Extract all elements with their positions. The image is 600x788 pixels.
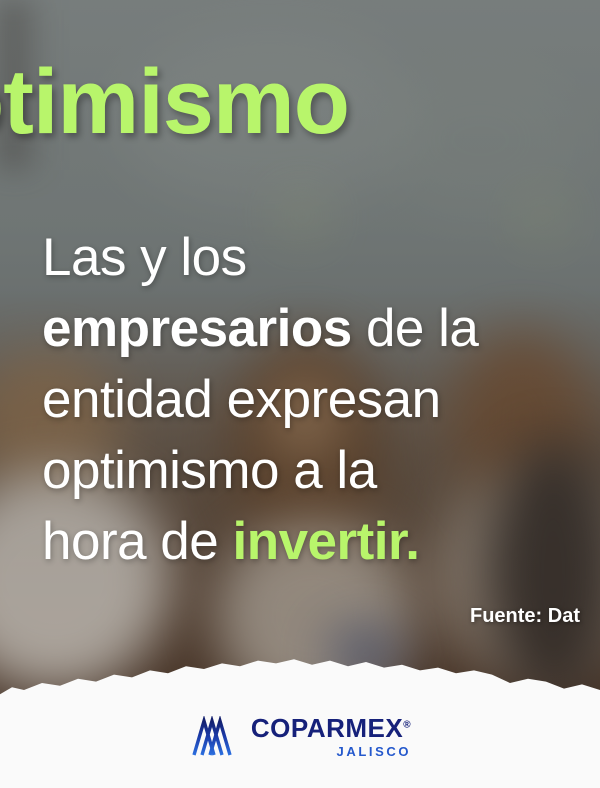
coparmex-name-text: COPARMEX: [251, 713, 403, 743]
body-line-4: optimismo a la: [42, 435, 562, 506]
body-line-5-accent: invertir.: [232, 512, 419, 571]
body-line-2: empresarios de la: [42, 293, 562, 364]
body-line-1: Las y los: [42, 222, 562, 293]
body-line-3-text: entidad expresan: [42, 370, 441, 429]
footer-logo-lockup: COPARMEX® JALISCO: [0, 715, 600, 758]
poster: otimismo Las y los empresarios de la ent…: [0, 0, 600, 788]
registered-trademark-icon: ®: [403, 719, 411, 730]
coparmex-pyramid-mark-icon: [189, 716, 235, 758]
body-line-2-bold: empresarios: [42, 299, 352, 358]
body-line-5: hora de invertir.: [42, 506, 562, 577]
body-line-1-text: Las y los: [42, 228, 247, 287]
body-copy: Las y los empresarios de la entidad expr…: [42, 222, 562, 577]
body-line-3: entidad expresan: [42, 364, 562, 435]
coparmex-name: COPARMEX®: [251, 715, 411, 741]
coparmex-city: JALISCO: [337, 745, 412, 758]
body-line-2-rest: de la: [352, 299, 479, 358]
source-attribution: Fuente: Dat: [470, 605, 580, 628]
body-line-5-plain: hora de: [42, 512, 232, 571]
headline: otimismo: [0, 56, 349, 148]
coparmex-wordmark: COPARMEX® JALISCO: [251, 715, 411, 758]
body-line-4-text: optimismo a la: [42, 441, 377, 500]
